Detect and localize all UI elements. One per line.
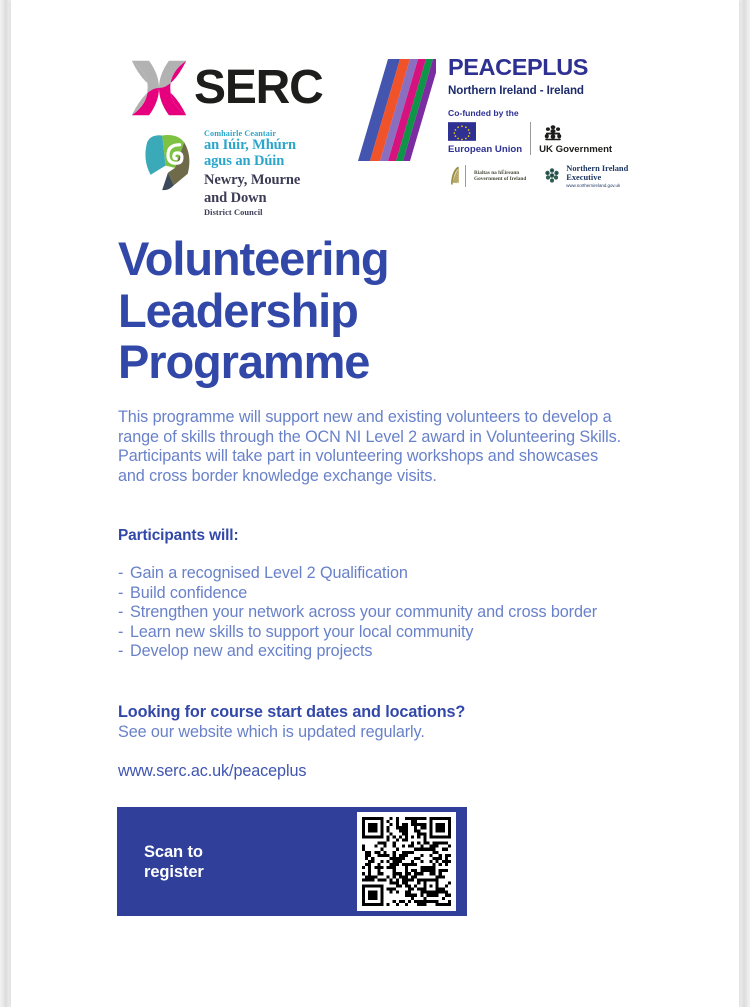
list-item-label: Gain a recognised Level 2 Qualification — [130, 564, 638, 584]
page-title: Volunteering Leadership Programme — [118, 233, 538, 388]
list-item: - Gain a recognised Level 2 Qualificatio… — [118, 564, 638, 584]
northern-ireland-executive-text: Northern Ireland Executive www.northerni… — [566, 164, 628, 189]
list-item-label: Learn new skills to support your local c… — [130, 623, 638, 643]
serc-wordmark: SERC — [194, 64, 323, 112]
document-viewport: SERC Comhairle Ceantair an Iúir, Mhúrn a… — [0, 0, 750, 1007]
ireland-harp-icon — [448, 165, 461, 187]
bullet-dash-icon: - — [118, 584, 130, 604]
peaceplus-cofunded-label: Co-funded by the — [448, 108, 628, 118]
uk-crown-icon — [539, 122, 567, 141]
funder-label-eu: European Union — [448, 144, 522, 155]
registration-qr-code[interactable] — [362, 817, 451, 906]
northern-ireland-executive: Northern Ireland Executive www.northerni… — [542, 164, 628, 189]
peaceplus-title: PEACEPLUS — [448, 56, 628, 80]
funder-label-uk: UK Government — [539, 144, 612, 155]
list-item: - Strengthen your network across your co… — [118, 603, 638, 623]
peaceplus-subtitle: Northern Ireland - Ireland — [448, 84, 628, 97]
scan-label-line-1: Scan to — [144, 842, 204, 862]
serc-logo: SERC — [128, 57, 348, 119]
headline-line-2: Leadership — [118, 285, 538, 337]
list-item-label: Build confidence — [130, 584, 638, 604]
government-of-ireland: Rialtas na hÉireann Government of Irelan… — [448, 165, 526, 187]
participants-heading: Participants will: — [118, 527, 239, 545]
page-left-edge — [0, 0, 11, 1007]
list-item: - Learn new skills to support your local… — [118, 623, 638, 643]
headline-line-1: Volunteering — [118, 233, 538, 285]
peaceplus-funders: European Union — [448, 122, 628, 155]
peaceplus-text-block: PEACEPLUS Northern Ireland - Ireland Co-… — [448, 56, 628, 188]
scan-to-register-label: Scan to register — [144, 842, 204, 882]
newry-mourne-down-logo: Comhairle Ceantair an Iúir, Mhúrn agus a… — [139, 126, 369, 204]
intro-paragraph: This programme will support new and exis… — [118, 408, 628, 486]
gov-divider-ireland — [465, 165, 466, 187]
eu-flag-icon — [448, 122, 476, 141]
nmd-line-4: Newry, Mourne — [204, 173, 300, 189]
scan-label-line-2: register — [144, 862, 204, 882]
government-of-ireland-text: Rialtas na hÉireann Government of Irelan… — [474, 170, 526, 183]
headline-line-3: Programme — [118, 336, 538, 388]
website-url[interactable]: www.serc.ac.uk/peaceplus — [118, 762, 306, 781]
peaceplus-logo: PEACEPLUS Northern Ireland - Ireland Co-… — [358, 56, 628, 206]
cta-answer: See our website which is updated regular… — [118, 723, 638, 743]
bullet-dash-icon: - — [118, 564, 130, 584]
northern-ireland-flax-icon — [542, 166, 562, 186]
scan-to-register-banner[interactable]: Scan to register — [117, 807, 467, 916]
participants-list: - Gain a recognised Level 2 Qualificatio… — [118, 564, 638, 662]
list-item-label: Develop new and exciting projects — [130, 642, 638, 662]
list-item: - Develop new and exciting projects — [118, 642, 638, 662]
funder-uk-government: UK Government — [539, 122, 612, 155]
bullet-dash-icon: - — [118, 642, 130, 662]
nmd-line-3: agus an Dúin — [204, 154, 300, 170]
page-right-edge — [739, 0, 750, 1007]
newry-mourne-down-emblem — [139, 128, 197, 198]
list-item: - Build confidence — [118, 584, 638, 604]
bullet-dash-icon: - — [118, 603, 130, 623]
nie-line-3: www.northernireland.gov.uk — [566, 183, 628, 188]
list-item-label: Strengthen your network across your comm… — [130, 603, 638, 623]
nie-line-1: Northern Ireland — [566, 164, 628, 173]
cta-question: Looking for course start dates and locat… — [118, 703, 638, 723]
poster-page: SERC Comhairle Ceantair an Iúir, Mhúrn a… — [11, 0, 739, 1007]
peaceplus-governments: Rialtas na hÉireann Government of Irelan… — [448, 164, 628, 189]
nmd-line-5: and Down — [204, 191, 300, 207]
logo-band: SERC Comhairle Ceantair an Iúir, Mhúrn a… — [11, 0, 739, 212]
goi-line-1: Rialtas na hÉireann — [474, 170, 526, 176]
qr-code-container — [357, 812, 456, 911]
serc-x-mark — [128, 57, 190, 119]
bullet-dash-icon: - — [118, 623, 130, 643]
newry-mourne-down-text: Comhairle Ceantair an Iúir, Mhúrn agus a… — [204, 126, 300, 218]
cta-text-block: Looking for course start dates and locat… — [118, 703, 638, 742]
nmd-line-2: an Iúir, Mhúrn — [204, 138, 300, 154]
nmd-line-6: District Council — [204, 208, 300, 218]
funder-divider — [530, 122, 531, 155]
goi-line-2: Government of Ireland — [474, 176, 526, 182]
nie-line-2: Executive — [566, 173, 628, 182]
peaceplus-stripes — [358, 59, 436, 161]
funder-european-union: European Union — [448, 122, 522, 155]
